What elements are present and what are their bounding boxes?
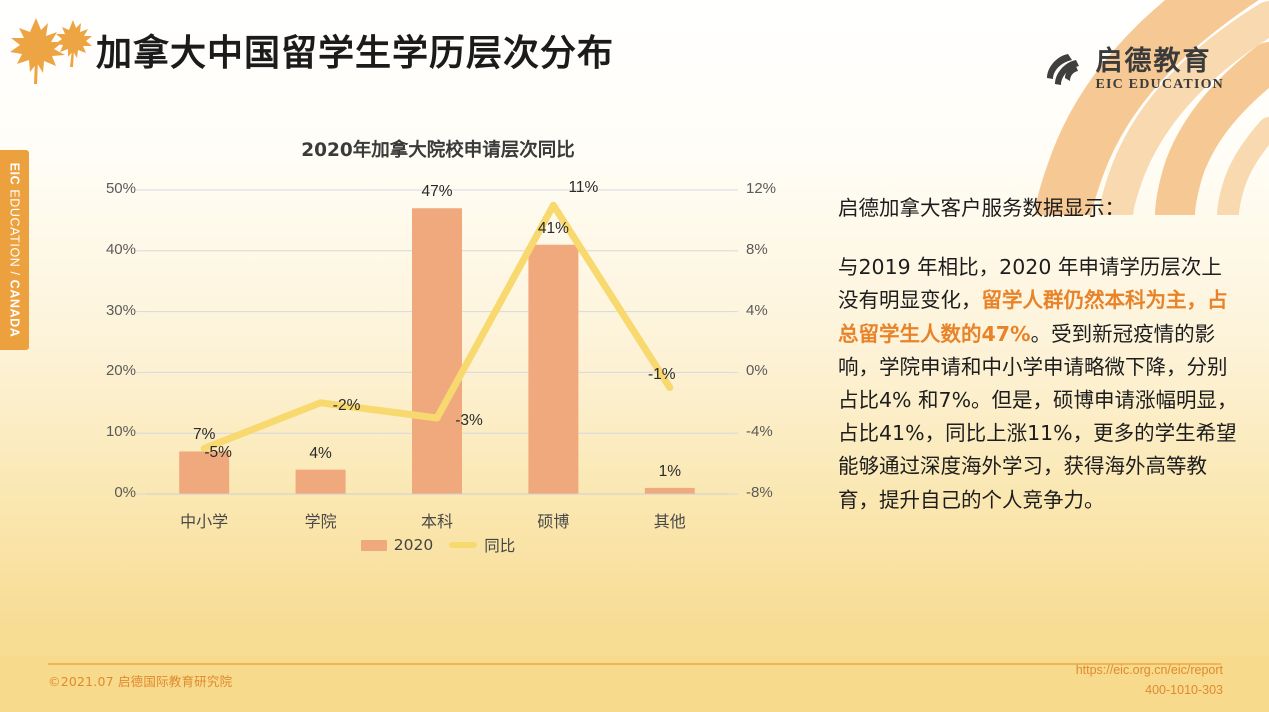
y-axis-left-tick: 30% (82, 302, 136, 319)
chart-bar (645, 488, 695, 494)
bar-value-label: 1% (630, 463, 710, 481)
chart-bar (296, 470, 346, 494)
chart-bar (528, 245, 578, 494)
chart-legend: 2020 同比 (88, 534, 788, 556)
logo-text-cn: 启德教育 (1095, 48, 1224, 75)
y-axis-right-tick: -8% (746, 484, 800, 501)
line-value-label: 11% (558, 179, 608, 197)
footer-copyright: ©2021.07 启德国际教育研究院 (48, 671, 232, 690)
chart-bar (412, 208, 462, 494)
x-axis-category-label: 中小学 (154, 508, 254, 532)
y-axis-left-tick: 0% (82, 484, 136, 501)
footer-phone: 400-1010-303 (1076, 681, 1223, 700)
bar-value-label: 41% (513, 220, 593, 238)
y-axis-right-tick: -4% (746, 423, 800, 440)
line-value-label: -1% (637, 366, 687, 384)
legend-swatch-bar-icon (361, 540, 387, 551)
line-value-label: -3% (444, 412, 494, 430)
side-tab-middle: EDUCATION / (8, 189, 22, 279)
side-tab-prefix: EIC (8, 163, 22, 190)
corner-ribbon-decoration (939, 0, 1269, 215)
side-tab-eic-education-canada: EIC EDUCATION / CANADA (0, 150, 29, 350)
x-axis-category-label: 其他 (620, 508, 720, 532)
x-axis-category-label: 本科 (387, 508, 487, 532)
line-value-label: -5% (193, 444, 243, 462)
side-tab-label: EIC EDUCATION / CANADA (8, 163, 22, 338)
y-axis-left-tick: 40% (82, 241, 136, 258)
legend-swatch-line-icon (449, 542, 477, 548)
footer-url[interactable]: https://eic.org.cn/eic/report (1076, 661, 1223, 680)
y-axis-right-tick: 12% (746, 180, 800, 197)
line-value-label: -2% (322, 397, 372, 415)
x-axis-category-label: 硕博 (503, 508, 603, 532)
x-axis-category-label: 学院 (271, 508, 371, 532)
chart-plot-area: 0%10%20%30%40%50%-8%-4%0%4%8%12%中小学学院本科硕… (88, 174, 788, 564)
y-axis-right-tick: 4% (746, 302, 800, 319)
slide-root: 加拿大中国留学生学历层次分布 启德教育 EIC EDUCATION EIC ED… (0, 0, 1269, 712)
y-axis-left-tick: 50% (82, 180, 136, 197)
legend-label-2020: 2020 (394, 536, 433, 554)
side-tab-suffix: CANADA (8, 280, 22, 338)
chart-container: 2020年加拿大院校申请层次同比 0%10%20%30%40%50%-8%-4%… (88, 136, 788, 566)
bar-value-label: 4% (281, 445, 361, 463)
y-axis-right-tick: 0% (746, 362, 800, 379)
chart-title: 2020年加拿大院校申请层次同比 (88, 136, 788, 162)
brand-logo: 启德教育 EIC EDUCATION (1041, 48, 1224, 92)
bar-value-label: 7% (164, 426, 244, 444)
footer-divider (48, 663, 1221, 665)
bar-value-label: 47% (397, 183, 477, 201)
y-axis-left-tick: 10% (82, 423, 136, 440)
legend-label-yoy: 同比 (484, 534, 515, 556)
commentary-lead: 启德加拿大客户服务数据显示： (838, 192, 1238, 225)
page-title: 加拿大中国留学生学历层次分布 (96, 24, 614, 76)
maple-leaf-icon (8, 14, 92, 90)
eic-logo-mark-icon (1041, 48, 1085, 92)
commentary-part2: 。受到新冠疫情的影响，学院申请和中小学申请略微下降，分别占比4% 和7%。但是，… (838, 322, 1238, 512)
legend-item-yoy: 同比 (449, 534, 515, 556)
commentary-panel: 启德加拿大客户服务数据显示： 与2019 年相比，2020 年申请学历层次上没有… (838, 192, 1238, 517)
y-axis-left-tick: 20% (82, 362, 136, 379)
logo-text-en: EIC EDUCATION (1095, 78, 1224, 92)
legend-item-2020: 2020 (361, 536, 433, 554)
footer-contact: https://eic.org.cn/eic/report 400-1010-3… (1076, 661, 1223, 700)
y-axis-right-tick: 8% (746, 241, 800, 258)
